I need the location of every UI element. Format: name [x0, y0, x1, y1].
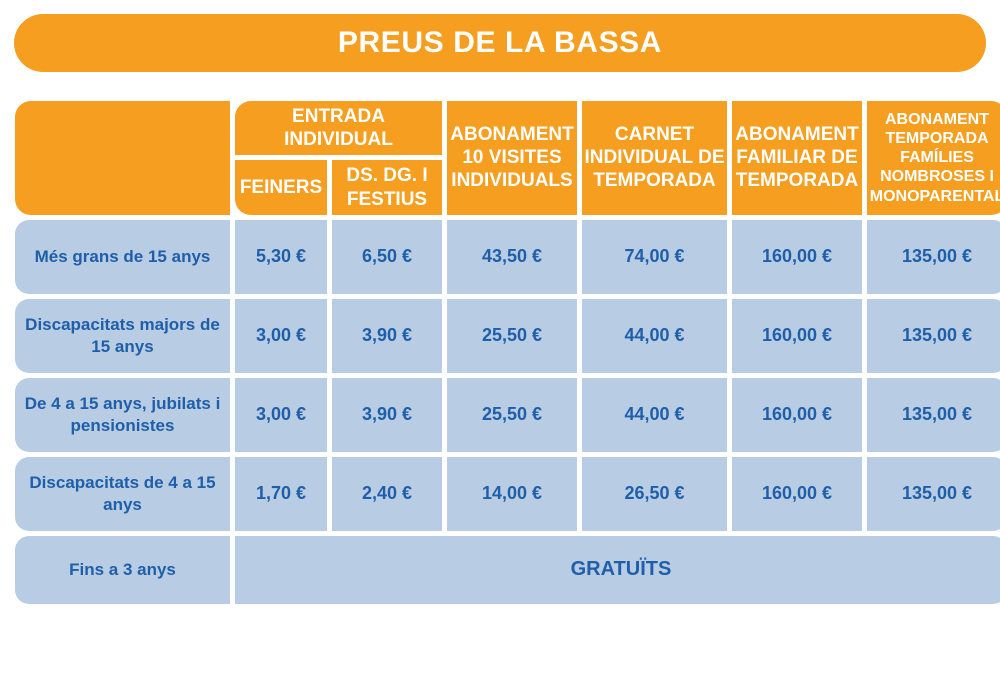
header-carnet-individual: CARNET INDIVIDUAL DE TEMPORADA: [582, 101, 727, 215]
row-label-de-4-a-15-jubilats: De 4 a 15 anys, jubilats i pensionistes: [15, 378, 230, 452]
cell-carnet: 26,50 €: [582, 457, 727, 531]
header-feiners: FEINERS: [235, 160, 327, 214]
row-label-mes-grans-15: Més grans de 15 anys: [15, 220, 230, 294]
cell-feiners: 1,70 €: [235, 457, 327, 531]
prices-table: ENTRADA INDIVIDUAL ABONAMENT 10 VISITES …: [10, 96, 1000, 609]
header-entrada-individual: ENTRADA INDIVIDUAL: [235, 101, 442, 155]
table-row: Més grans de 15 anys 5,30 € 6,50 € 43,50…: [15, 220, 1000, 294]
cell-festius: 6,50 €: [332, 220, 442, 294]
price-table-page: PREUS DE LA BASSA ENTRADA INDIVIDUAL ABO…: [0, 0, 1000, 699]
header-abonament-temporada-families: ABONAMENT TEMPORADA FAMÍLIES NOMBROSES I…: [867, 101, 1000, 215]
cell-abonament-10: 25,50 €: [447, 299, 577, 373]
table-header: ENTRADA INDIVIDUAL ABONAMENT 10 VISITES …: [15, 101, 1000, 215]
header-ds-dg-festius: DS. DG. I FESTIUS: [332, 160, 442, 214]
table-row: De 4 a 15 anys, jubilats i pensionistes …: [15, 378, 1000, 452]
cell-abonament-10: 43,50 €: [447, 220, 577, 294]
table-header-row-1: ENTRADA INDIVIDUAL ABONAMENT 10 VISITES …: [15, 101, 1000, 155]
cell-abonament-10: 14,00 €: [447, 457, 577, 531]
table-body: Més grans de 15 anys 5,30 € 6,50 € 43,50…: [15, 220, 1000, 604]
page-title-banner: PREUS DE LA BASSA: [14, 14, 986, 72]
table-row-free: Fins a 3 anys GRATUÏTS: [15, 536, 1000, 604]
cell-abonament-10: 25,50 €: [447, 378, 577, 452]
cell-families: 135,00 €: [867, 378, 1000, 452]
table-row: Discapacitats de 4 a 15 anys 1,70 € 2,40…: [15, 457, 1000, 531]
cell-festius: 2,40 €: [332, 457, 442, 531]
cell-carnet: 74,00 €: [582, 220, 727, 294]
cell-carnet: 44,00 €: [582, 378, 727, 452]
header-abonament-familiar: ABONAMENT FAMILIAR DE TEMPORADA: [732, 101, 862, 215]
cell-feiners: 5,30 €: [235, 220, 327, 294]
cell-carnet: 44,00 €: [582, 299, 727, 373]
page-title: PREUS DE LA BASSA: [338, 26, 662, 60]
row-label-discapacitats-majors-15: Discapacitats majors de 15 anys: [15, 299, 230, 373]
row-label-discapacitats-4-15: Discapacitats de 4 a 15 anys: [15, 457, 230, 531]
cell-families: 135,00 €: [867, 299, 1000, 373]
cell-feiners: 3,00 €: [235, 378, 327, 452]
cell-families: 135,00 €: [867, 220, 1000, 294]
cell-familiar: 160,00 €: [732, 220, 862, 294]
cell-familiar: 160,00 €: [732, 378, 862, 452]
cell-gratuits: GRATUÏTS: [235, 536, 1000, 604]
header-corner-empty: [15, 101, 230, 215]
cell-families: 135,00 €: [867, 457, 1000, 531]
cell-familiar: 160,00 €: [732, 299, 862, 373]
header-abonament-10-visites: ABONAMENT 10 VISITES INDIVIDUALS: [447, 101, 577, 215]
cell-feiners: 3,00 €: [235, 299, 327, 373]
cell-festius: 3,90 €: [332, 378, 442, 452]
table-row: Discapacitats majors de 15 anys 3,00 € 3…: [15, 299, 1000, 373]
row-label-fins-3-anys: Fins a 3 anys: [15, 536, 230, 604]
cell-familiar: 160,00 €: [732, 457, 862, 531]
cell-festius: 3,90 €: [332, 299, 442, 373]
